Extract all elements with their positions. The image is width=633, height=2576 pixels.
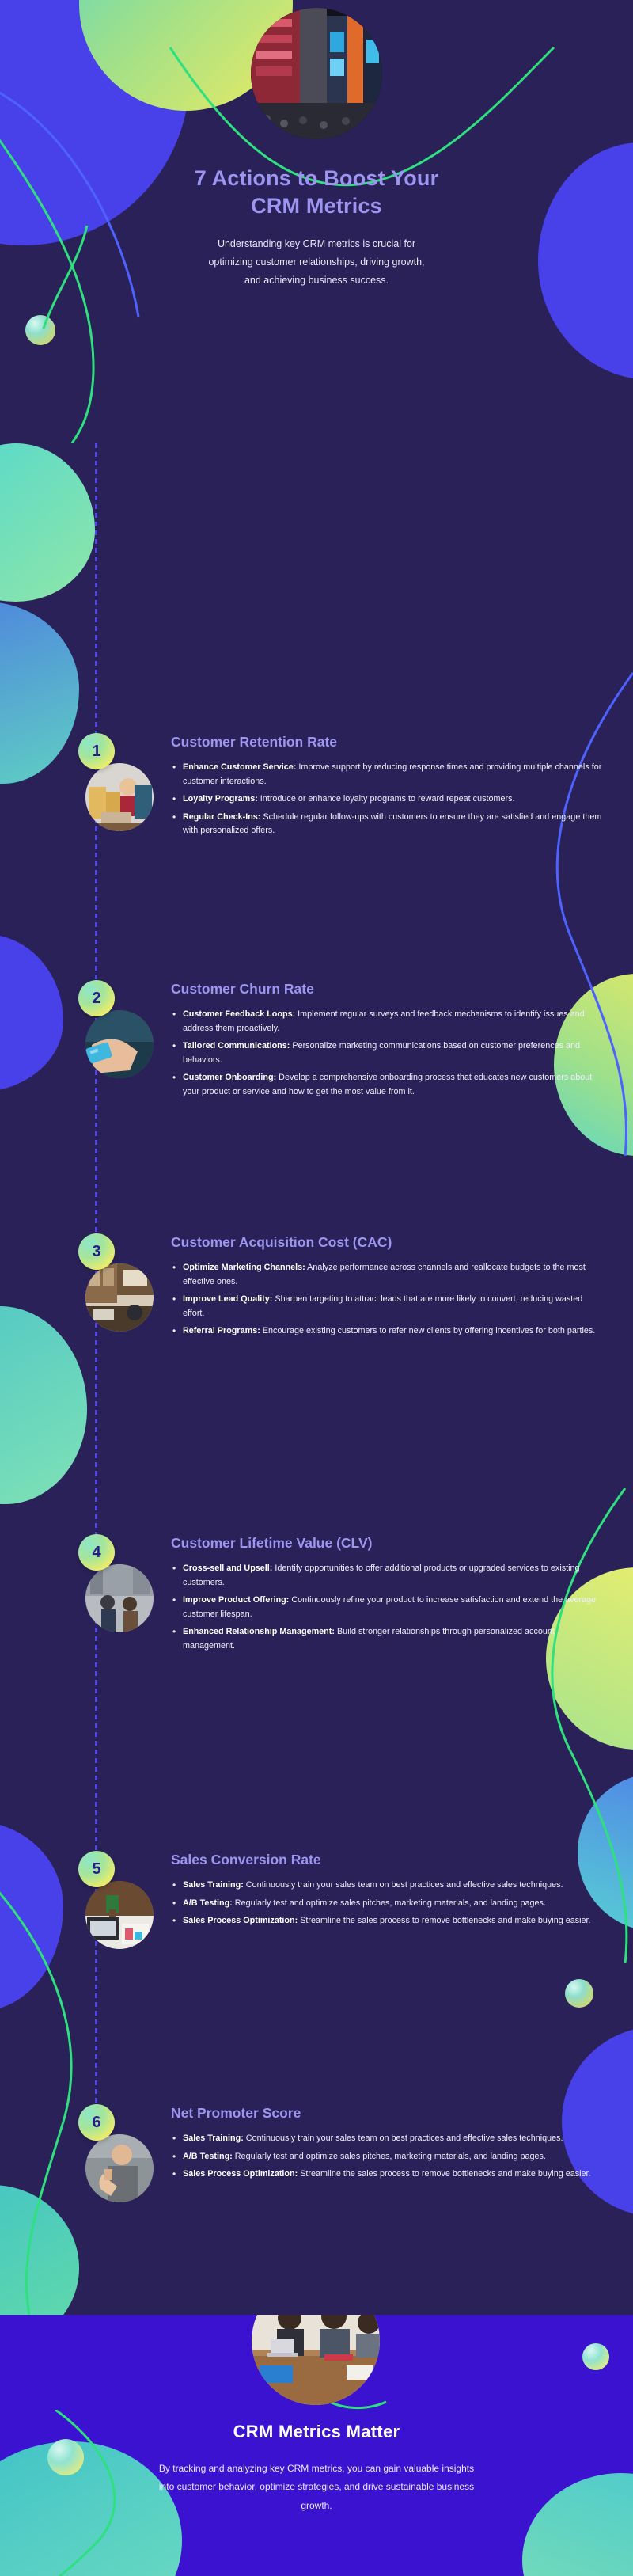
- list-item: Enhance Customer Service: Improve suppor…: [171, 761, 606, 788]
- point-lead: Loyalty Programs:: [183, 794, 258, 804]
- point-lead: Customer Feedback Loops:: [183, 1009, 295, 1019]
- point-lead: Regular Check-Ins:: [183, 812, 260, 822]
- step-number: 3: [92, 1243, 100, 1261]
- footer-title: CRM Metrics Matter: [0, 2422, 633, 2442]
- point-lead: A/B Testing:: [183, 2152, 233, 2161]
- page-title-line-1: 7 Actions to Boost Your: [195, 166, 439, 190]
- point-text: Streamline the sales process to remove b…: [298, 2169, 590, 2179]
- section-thumbnail: [85, 1263, 154, 1332]
- footer-content: CRM Metrics Matter By tracking and analy…: [0, 2315, 633, 2515]
- point-lead: Enhanced Relationship Management:: [183, 1627, 335, 1636]
- list-item: A/B Testing: Regularly test and optimize…: [171, 1897, 606, 1910]
- section-thumbnail: [85, 1564, 154, 1632]
- point-text: Streamline the sales process to remove b…: [298, 1916, 590, 1925]
- section-body: Net Promoter Score Sales Training: Conti…: [171, 2104, 633, 2181]
- step-number: 1: [92, 743, 100, 761]
- list-item: Loyalty Programs: Introduce or enhance l…: [171, 792, 606, 806]
- header: 7 Actions to Boost Your CRM Metrics Unde…: [0, 0, 633, 290]
- point-lead: Improve Lead Quality:: [183, 1294, 272, 1304]
- list-item: Tailored Communications: Personalize mar…: [171, 1039, 606, 1067]
- section-title: Customer Churn Rate: [171, 980, 606, 998]
- section-body: Customer Acquisition Cost (CAC) Optimize…: [171, 1233, 633, 1338]
- thumbnail-illustration: [85, 1010, 154, 1078]
- list-item: Cross-sell and Upsell: Identify opportun…: [171, 1562, 606, 1590]
- section-points: Optimize Marketing Channels: Analyze per…: [171, 1261, 606, 1338]
- thumbnail-illustration: [85, 2134, 154, 2202]
- thumbnail-illustration: [85, 1881, 154, 1949]
- section-points: Cross-sell and Upsell: Identify opportun…: [171, 1562, 606, 1653]
- section-title: Customer Retention Rate: [171, 733, 606, 751]
- list-item: Improve Product Offering: Continuously r…: [171, 1594, 606, 1621]
- point-text: Introduce or enhance loyalty programs to…: [258, 794, 515, 804]
- footer-description-line-3: growth.: [301, 2500, 332, 2511]
- gradient-sphere-small-1: [25, 315, 55, 345]
- point-lead: Enhance Customer Service:: [183, 762, 296, 772]
- section-title: Customer Acquisition Cost (CAC): [171, 1233, 606, 1252]
- section-4: 4 Customer Lifetime Value (CLV) Cross-se…: [0, 1534, 633, 1657]
- point-lead: Cross-sell and Upsell:: [183, 1563, 272, 1573]
- point-lead: Optimize Marketing Channels:: [183, 1263, 305, 1272]
- list-item: Sales Process Optimization: Streamline t…: [171, 2168, 606, 2181]
- list-item: Sales Training: Continuously train your …: [171, 2132, 606, 2145]
- page-subtitle-line-1: Understanding key CRM metrics is crucial…: [218, 238, 415, 249]
- section-body: Sales Conversion Rate Sales Training: Co…: [171, 1851, 633, 1928]
- teal-blob-left-1: [0, 443, 95, 602]
- point-text: Regularly test and optimize sales pitche…: [233, 2152, 546, 2161]
- page-title: 7 Actions to Boost Your CRM Metrics: [146, 165, 487, 219]
- section-points: Customer Feedback Loops: Implement regul…: [171, 1008, 606, 1099]
- city-street-illustration: [251, 8, 382, 139]
- point-lead: Tailored Communications:: [183, 1041, 290, 1051]
- thumbnail-illustration: [85, 1263, 154, 1332]
- thumbnail-illustration: [85, 763, 154, 831]
- section-points: Sales Training: Continuously train your …: [171, 2132, 606, 2181]
- page-subtitle-line-2: optimizing customer relationships, drivi…: [208, 256, 424, 268]
- section-1: 1 Customer Retention Rate Enhance Custom…: [0, 733, 633, 842]
- point-text: Encourage existing customers to refer ne…: [260, 1326, 596, 1335]
- list-item: Improve Lead Quality: Sharpen targeting …: [171, 1293, 606, 1320]
- point-lead: Improve Product Offering:: [183, 1595, 289, 1605]
- section-thumbnail: [85, 763, 154, 831]
- page-subtitle: Understanding key CRM metrics is crucial…: [150, 235, 483, 290]
- point-lead: Referral Programs:: [183, 1326, 260, 1335]
- section-thumbnail: [85, 2134, 154, 2202]
- point-text: Regularly test and optimize sales pitche…: [233, 1898, 546, 1908]
- list-item: Referral Programs: Encourage existing cu…: [171, 1324, 606, 1338]
- section-6: 6 Net Promoter Score Sales Training: Con…: [0, 2104, 633, 2185]
- section-2: 2 Customer Churn Rate Customer Feedback …: [0, 980, 633, 1103]
- gradient-sphere-small-3: [565, 1979, 593, 2008]
- thumbnail-illustration: [85, 1564, 154, 1632]
- section-title: Net Promoter Score: [171, 2104, 606, 2122]
- list-item: Customer Onboarding: Develop a comprehen…: [171, 1071, 606, 1099]
- infographic-page: 7 Actions to Boost Your CRM Metrics Unde…: [0, 0, 633, 2576]
- section-5: 5 Sales Conversion Rate Sales Training: …: [0, 1851, 633, 1932]
- step-number: 5: [92, 1860, 100, 1879]
- section-body: Customer Retention Rate Enhance Customer…: [171, 733, 633, 838]
- section-title: Sales Conversion Rate: [171, 1851, 606, 1869]
- list-item: A/B Testing: Regularly test and optimize…: [171, 2150, 606, 2164]
- point-lead: Sales Process Optimization:: [183, 1916, 298, 1925]
- section-thumbnail: [85, 1010, 154, 1078]
- hero-image: [251, 8, 382, 139]
- step-number: 6: [92, 2114, 100, 2132]
- footer-description-line-1: By tracking and analyzing key CRM metric…: [159, 2463, 474, 2474]
- list-item: Enhanced Relationship Management: Build …: [171, 1625, 606, 1653]
- page-title-line-2: CRM Metrics: [251, 194, 382, 218]
- footer: CRM Metrics Matter By tracking and analy…: [0, 2315, 633, 2576]
- list-item: Optimize Marketing Channels: Analyze per…: [171, 1261, 606, 1289]
- point-lead: Sales Training:: [183, 1880, 244, 1890]
- point-text: Continuously train your sales team on be…: [244, 1880, 563, 1890]
- list-item: Sales Process Optimization: Streamline t…: [171, 1914, 606, 1928]
- section-body: Customer Lifetime Value (CLV) Cross-sell…: [171, 1534, 633, 1653]
- footer-description-line-2: into customer behavior, optimize strateg…: [159, 2481, 474, 2492]
- section-points: Sales Training: Continuously train your …: [171, 1879, 606, 1928]
- footer-description: By tracking and analyzing key CRM metric…: [111, 2460, 522, 2515]
- section-points: Enhance Customer Service: Improve suppor…: [171, 761, 606, 838]
- section-3: 3 Customer Acquisition Cost (CAC) Optimi…: [0, 1233, 633, 1342]
- point-lead: Sales Process Optimization:: [183, 2169, 298, 2179]
- point-text: Continuously train your sales team on be…: [244, 2133, 563, 2143]
- point-lead: A/B Testing:: [183, 1898, 233, 1908]
- list-item: Regular Check-Ins: Schedule regular foll…: [171, 811, 606, 838]
- step-number: 2: [92, 990, 100, 1008]
- section-body: Customer Churn Rate Customer Feedback Lo…: [171, 980, 633, 1099]
- page-subtitle-line-3: and achieving business success.: [244, 275, 389, 286]
- section-thumbnail: [85, 1881, 154, 1949]
- list-item: Customer Feedback Loops: Implement regul…: [171, 1008, 606, 1035]
- list-item: Sales Training: Continuously train your …: [171, 1879, 606, 1892]
- step-number: 4: [92, 1544, 100, 1562]
- point-lead: Customer Onboarding:: [183, 1073, 276, 1082]
- point-lead: Sales Training:: [183, 2133, 244, 2143]
- section-title: Customer Lifetime Value (CLV): [171, 1534, 606, 1552]
